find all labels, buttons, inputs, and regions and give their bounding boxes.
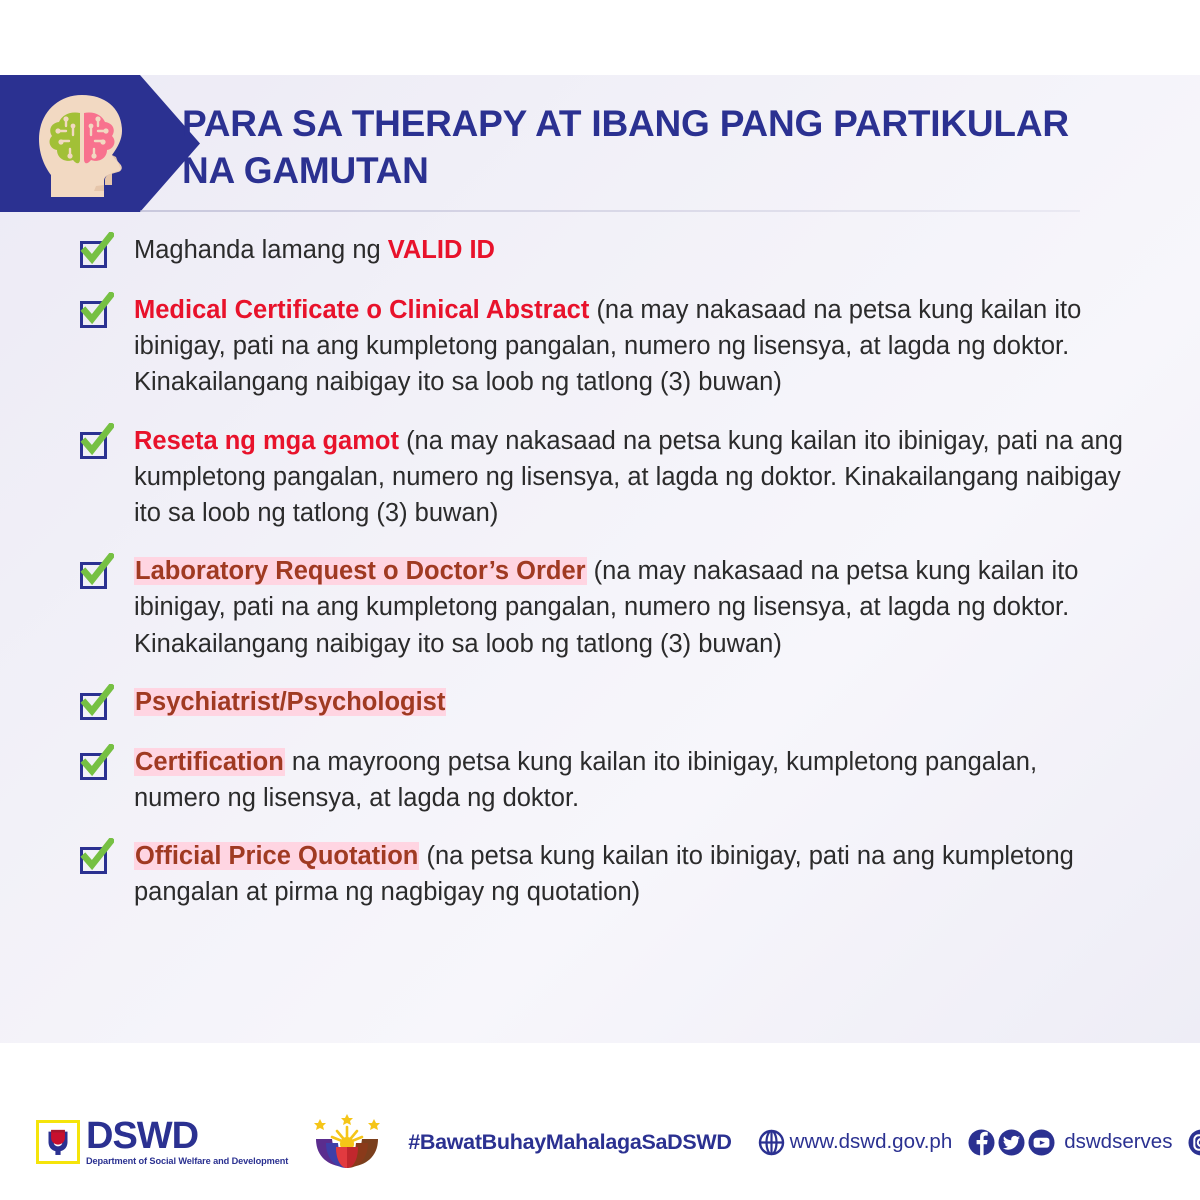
poster-root: PARA SA THERAPY AT IBANG PANG PARTIKULAR… — [0, 0, 1200, 1200]
list-item: Reseta ng mga gamot (na may nakasaad na … — [0, 423, 1200, 532]
item-plain-prefix: Maghanda lamang ng — [134, 236, 388, 264]
list-item: Laboratory Request o Doctor’s Order (na … — [0, 553, 1200, 662]
list-item: Maghanda lamang ng VALID ID — [0, 232, 1200, 270]
website-url[interactable]: www.dswd.gov.ph — [790, 1130, 953, 1154]
item-emphasis: Psychiatrist/Psychologist — [134, 688, 446, 716]
checked-checkbox-icon — [78, 427, 112, 461]
footer-row: DSWD Department of Social Welfare and De… — [0, 1107, 1200, 1177]
list-item-text: Certification na mayroong petsa kung kai… — [134, 744, 1130, 816]
social-links: www.dswd.gov.ph — [758, 1129, 1200, 1156]
youtube-icon[interactable] — [1028, 1129, 1055, 1156]
page-title: PARA SA THERAPY AT IBANG PANG PARTIKULAR… — [182, 101, 1112, 195]
list-item: Psychiatrist/Psychologist — [0, 684, 1200, 722]
checked-checkbox-icon — [78, 296, 112, 330]
checked-checkbox-icon — [78, 688, 112, 722]
dswd-wordmark: DSWD Department of Social Welfare and De… — [86, 1118, 288, 1166]
list-item: Certification na mayroong petsa kung kai… — [0, 744, 1200, 816]
dswd-logo: DSWD Department of Social Welfare and De… — [36, 1118, 288, 1166]
checklist: Maghanda lamang ng VALID ID Medical Cert… — [0, 232, 1200, 933]
footer: DSWD Department of Social Welfare and De… — [0, 1043, 1200, 1200]
checked-checkbox-icon — [78, 557, 112, 591]
checked-checkbox-icon — [78, 236, 112, 270]
facebook-icon[interactable] — [968, 1129, 995, 1156]
list-item-text: Official Price Quotation (na petsa kung … — [134, 838, 1130, 910]
twitter-icon[interactable] — [998, 1129, 1025, 1156]
item-emphasis: Certification — [134, 748, 285, 776]
social-handle[interactable]: dswdserves — [1064, 1130, 1172, 1154]
globe-icon[interactable] — [758, 1129, 785, 1156]
list-item-text: Medical Certificate o Clinical Abstract … — [134, 292, 1130, 401]
checked-checkbox-icon — [78, 748, 112, 782]
dswd-emblem-icon — [36, 1120, 80, 1164]
list-item-text: Maghanda lamang ng VALID ID — [134, 232, 1130, 268]
brain-head-icon — [26, 89, 138, 201]
list-item-text: Psychiatrist/Psychologist — [134, 684, 1130, 720]
header-banner: PARA SA THERAPY AT IBANG PANG PARTIKULAR… — [0, 75, 1200, 212]
list-item-text: Reseta ng mga gamot (na may nakasaad na … — [134, 423, 1130, 532]
item-emphasis: Official Price Quotation — [134, 842, 419, 870]
list-item: Medical Certificate o Clinical Abstract … — [0, 292, 1200, 401]
item-emphasis: Reseta ng mga gamot — [134, 427, 399, 455]
item-emphasis: VALID ID — [388, 236, 495, 264]
header-divider — [140, 210, 1080, 212]
list-item-text: Laboratory Request o Doctor’s Order (na … — [134, 553, 1130, 662]
list-item: Official Price Quotation (na petsa kung … — [0, 838, 1200, 910]
item-emphasis: Medical Certificate o Clinical Abstract — [134, 296, 589, 324]
item-emphasis: Laboratory Request o Doctor’s Order — [134, 557, 587, 585]
dswd-fullname: Department of Social Welfare and Develop… — [86, 1156, 288, 1166]
campaign-hashtag: #BawatBuhayMahalagaSaDSWD — [408, 1130, 731, 1155]
bagong-pilipinas-logo — [310, 1113, 384, 1171]
instagram-icon[interactable] — [1188, 1129, 1200, 1156]
dswd-acronym: DSWD — [86, 1118, 198, 1154]
checked-checkbox-icon — [78, 842, 112, 876]
